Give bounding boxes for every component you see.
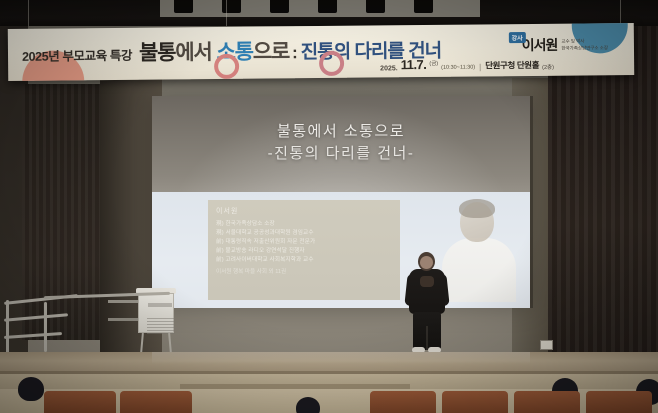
audience-chair <box>442 391 508 413</box>
audience-chair <box>514 391 580 413</box>
banner-title-part1-tail: 에서 <box>175 36 212 66</box>
bio-line: 前) 고려사이버대학교 사회복지학과 교수 <box>216 256 392 265</box>
presenter <box>404 252 450 354</box>
handrail-post-right <box>44 302 47 352</box>
stage-curtain-right <box>548 26 658 358</box>
bio-line: 現) 한국가족상담소 소장 <box>216 220 392 229</box>
speaker-name: 이서원 <box>522 35 558 55</box>
banner-day: (금) <box>429 59 438 67</box>
banner-venue: 단원구청 단원홀 <box>485 59 539 72</box>
audience-chair <box>586 391 652 413</box>
speaker-credential-2: 한국가족상담연구소 소장 <box>561 45 608 51</box>
banner-floor: (2층) <box>542 63 554 71</box>
wall-outlet <box>540 340 553 350</box>
slide-subtitle: -진통의 다리를 건너- <box>152 142 530 163</box>
portrait-hair <box>459 199 495 218</box>
bio-heading: 이서원 <box>216 206 392 216</box>
banner-year: 2025. <box>380 65 398 72</box>
banner-divider: | <box>478 62 482 71</box>
screen-edge <box>530 96 533 308</box>
stage-floor-reflection <box>152 352 530 364</box>
presenter-face <box>420 256 433 269</box>
banner-title-part1: 불통 <box>139 36 176 66</box>
audience-chair <box>44 391 116 413</box>
mobile-lectern <box>134 288 178 356</box>
lectern-body <box>138 293 174 333</box>
lectern-grill <box>147 318 175 334</box>
speaker-credentials: 교수 및 박사 한국가족상담연구소 소장 <box>561 38 608 51</box>
stage-handrail <box>4 296 78 358</box>
presenter-hands <box>420 276 434 287</box>
speaker-credential-1: 교수 및 박사 <box>561 38 608 44</box>
banner-wire-left <box>28 0 29 26</box>
lectern-label <box>148 303 172 307</box>
handrail-low-bar <box>4 332 62 339</box>
banner-ring-decoration-1 <box>214 54 239 79</box>
bio-footer: 이서원 행복 마을 사회 외 11권 <box>216 267 392 275</box>
banner-date: 11.7. <box>401 57 427 72</box>
portrait-shirt <box>442 238 516 302</box>
banner-event-details: 2025. 11.7. (금) (10:30~11:30) | 단원구청 단원홀… <box>380 56 554 73</box>
audience-chair <box>120 391 192 413</box>
banner-prefix: 2025년 부모교육 특강 <box>22 45 132 65</box>
projection-screen: 불통에서 소통으로 -진통의 다리를 건너- 이서원 現) 한국가족상담소 소장… <box>152 96 530 308</box>
slide-body: 이서원 現) 한국가족상담소 소장 現) 서울대학교 공공성과대학원 겸임교수 … <box>152 192 530 308</box>
handrail-post-left <box>6 300 9 354</box>
lectern-leg-right <box>168 333 172 353</box>
speaker-portrait-photo <box>438 194 520 302</box>
lighting-truss <box>160 0 480 17</box>
banner-title-accent-tail: 으로 <box>253 35 290 65</box>
audience-chair <box>370 391 436 413</box>
lectern-leg-left <box>140 333 144 353</box>
bio-line: 現) 서울대학교 공공성과대학원 겸임교수 <box>216 229 392 238</box>
banner-speaker-block: 강사 이서원 교수 및 박사 한국가족상담연구소 소장 <box>501 34 608 55</box>
banner-wire-mid <box>226 0 227 26</box>
banner-wire-right <box>620 0 621 26</box>
slide-title: 불통에서 소통으로 <box>152 120 530 143</box>
banner-ring-decoration-2 <box>319 51 344 76</box>
bio-line: 前) 불교방송 라디오 강연석달 진행자 <box>216 247 392 256</box>
bio-line: 前) 대통령직속 저출산위원회 자문 전문가 <box>216 238 392 247</box>
event-banner: 2025년 부모교육 특강 불통 에서 소통 으로 : 진통의 다리를 건너 2… <box>8 23 634 81</box>
audience-head <box>296 397 320 413</box>
presenter-leg-gap <box>426 326 428 350</box>
handrail-mid-bar <box>4 313 68 322</box>
speaker-bio-box: 이서원 現) 한국가족상담소 소장 現) 서울대학교 공공성과대학원 겸임교수 … <box>208 200 400 300</box>
speaker-badge: 강사 <box>509 32 526 43</box>
lecture-hall-photo: 2025년 부모교육 특강 불통 에서 소통 으로 : 진통의 다리를 건너 2… <box>0 0 658 413</box>
banner-colon: : <box>292 43 298 63</box>
banner-time: (10:30~11:30) <box>441 65 475 71</box>
audience-head <box>18 377 44 401</box>
